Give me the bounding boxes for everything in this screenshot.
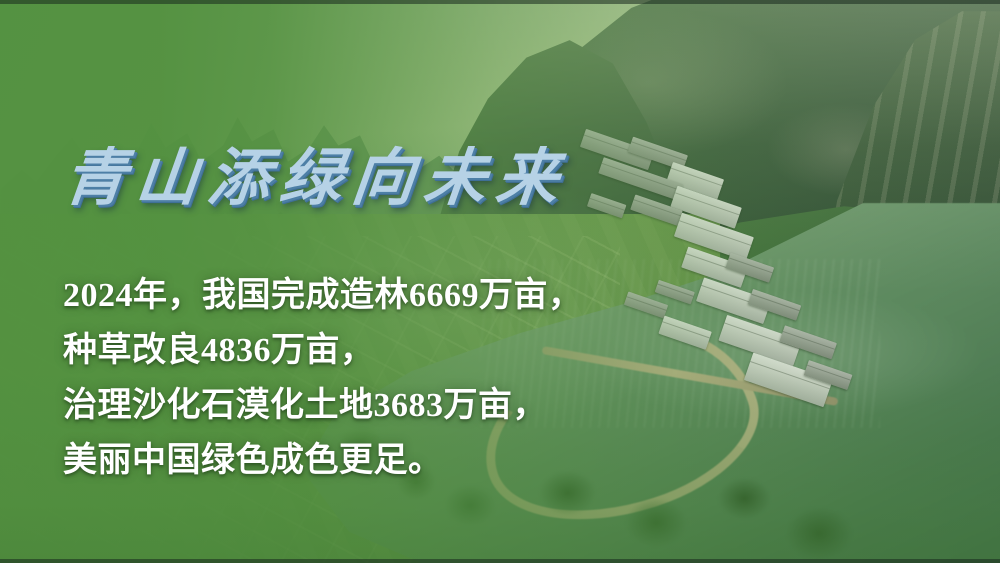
poster-canvas: 青山添绿向未来 2024年，我国完成造林6669万亩， 种草改良4836万亩， …	[0, 0, 1000, 563]
body-line-3: 治理沙化石漠化土地3683万亩，	[63, 378, 583, 433]
body-line-2: 种草改良4836万亩，	[63, 323, 583, 378]
page-title: 青山添绿向未来	[61, 148, 572, 210]
body-line-1: 2024年，我国完成造林6669万亩，	[63, 268, 583, 323]
body-copy: 2024年，我国完成造林6669万亩， 种草改良4836万亩， 治理沙化石漠化土…	[63, 268, 583, 488]
body-line-4: 美丽中国绿色成色更足。	[63, 433, 583, 488]
